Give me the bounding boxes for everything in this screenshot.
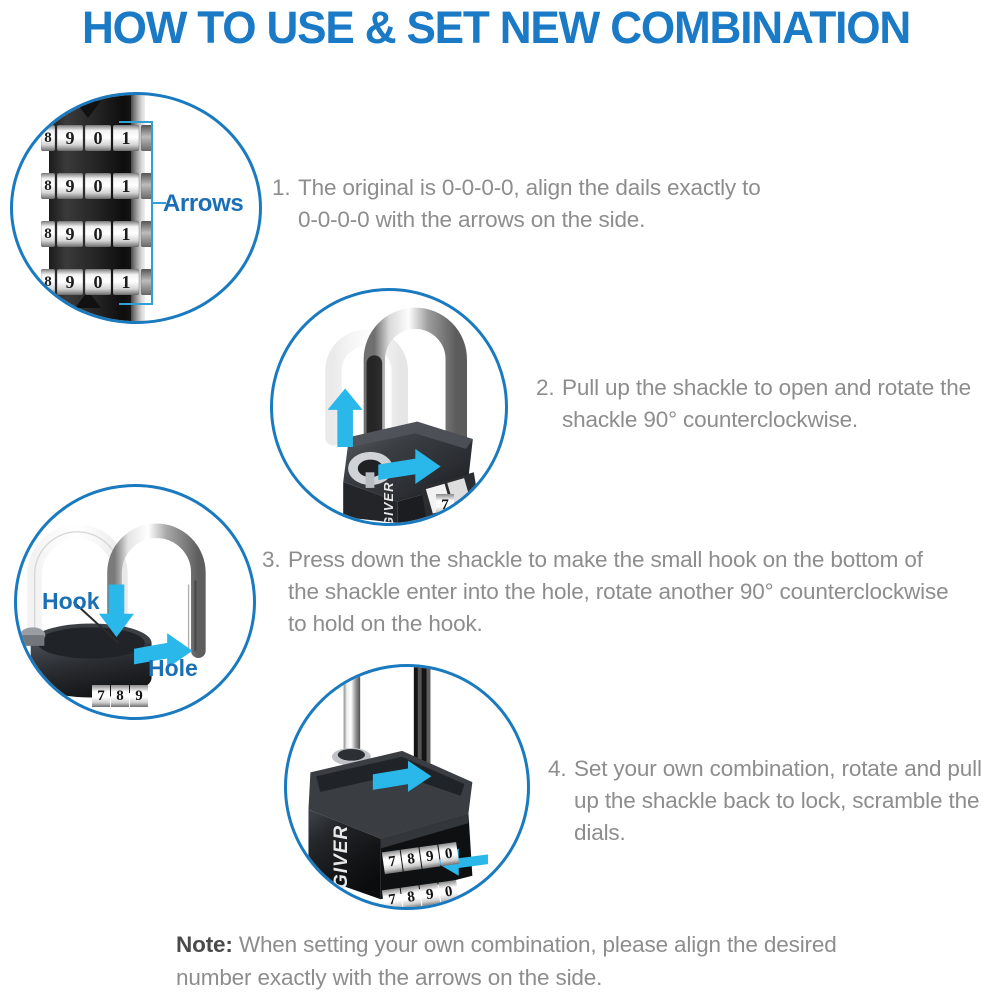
dial-digit: 9 [57, 269, 83, 295]
dial-digit: 1 [113, 125, 139, 151]
dial-digit: 9 [130, 685, 148, 707]
dial-digit: 0 [438, 880, 459, 904]
hook-label: Hook [42, 588, 100, 615]
dial-row: 8 9 0 1 [41, 269, 153, 295]
dial-digit: 1 [113, 221, 139, 247]
step-1: 1. The original is 0-0-0-0, align the da… [272, 172, 782, 236]
note-label: Note [176, 932, 225, 957]
dial-digit: 9 [57, 221, 83, 247]
mini-dial-readout: 7 [436, 494, 455, 516]
dial-digit: 8 [401, 885, 422, 909]
step-2-text: Pull up the shackle to open and rotate t… [562, 372, 988, 436]
dial-row: 8 9 0 1 [41, 221, 153, 247]
dial-digit: 0 [85, 125, 111, 151]
mini-dial-readout: 7 8 9 [92, 685, 149, 707]
triangle-down-icon [75, 101, 101, 118]
step-2-number: 2. [536, 372, 562, 404]
dial-digit: 8 [41, 173, 55, 199]
dial-digit: 1 [113, 173, 139, 199]
instruction-sheet: HOW TO USE & SET NEW COMBINATION 8 9 0 1… [0, 0, 992, 1000]
step-3: 3. Press down the shackle to make the sm… [262, 544, 952, 640]
note-separator: : [225, 932, 232, 957]
diagram-pull-up-shackle: 7 GIVER [270, 288, 508, 526]
dial-digit: 7 [436, 494, 454, 516]
step-3-number: 3. [262, 544, 288, 576]
dial-digit: 7 [382, 888, 403, 910]
step-2: 2. Pull up the shackle to open and rotat… [536, 372, 988, 436]
dial-digit: 8 [41, 125, 55, 151]
step-1-text: The original is 0-0-0-0, align the dails… [298, 172, 782, 236]
dial-digit: 0 [85, 221, 111, 247]
step-4-text: Set your own combination, rotate and pul… [574, 753, 988, 849]
step-4: 4. Set your own combination, rotate and … [548, 753, 988, 849]
dial-digit: 8 [41, 221, 55, 247]
brand-logo: GIVER [381, 482, 396, 526]
dial-digit: 7 [382, 850, 403, 874]
note-block: Note: When setting your own combination,… [176, 928, 876, 994]
dial-digit: 9 [57, 125, 83, 151]
brand-logo: GIVER [331, 825, 353, 889]
step-1-number: 1. [272, 172, 298, 204]
hole-label: Hole [148, 655, 198, 682]
diagram-set-combination: GIVER 7 8 9 0 7 8 9 0 [284, 664, 530, 910]
dial-digit: 8 [111, 685, 129, 707]
note-text: When setting your own combination, pleas… [176, 932, 837, 990]
dial-digit: 7 [92, 685, 110, 707]
page-title: HOW TO USE & SET NEW COMBINATION [10, 2, 982, 54]
dial-digit: 8 [401, 847, 422, 871]
dial-digit: 9 [419, 883, 440, 907]
dial-digit: 8 [41, 269, 55, 295]
dial-digit: 0 [438, 842, 459, 866]
dial-digit: 9 [57, 173, 83, 199]
dial-digit: 0 [85, 173, 111, 199]
step-4-number: 4. [548, 753, 574, 785]
arrows-label: Arrows [163, 190, 243, 218]
step-3-text: Press down the shackle to make the small… [288, 544, 952, 640]
dial-row: 8 9 0 1 [41, 173, 153, 199]
bracket-icon [139, 121, 153, 305]
dial-digit: 0 [85, 269, 111, 295]
dial-row: 8 9 0 1 [41, 125, 153, 151]
dial-digit: 1 [113, 269, 139, 295]
dial-digit: 9 [419, 845, 440, 869]
